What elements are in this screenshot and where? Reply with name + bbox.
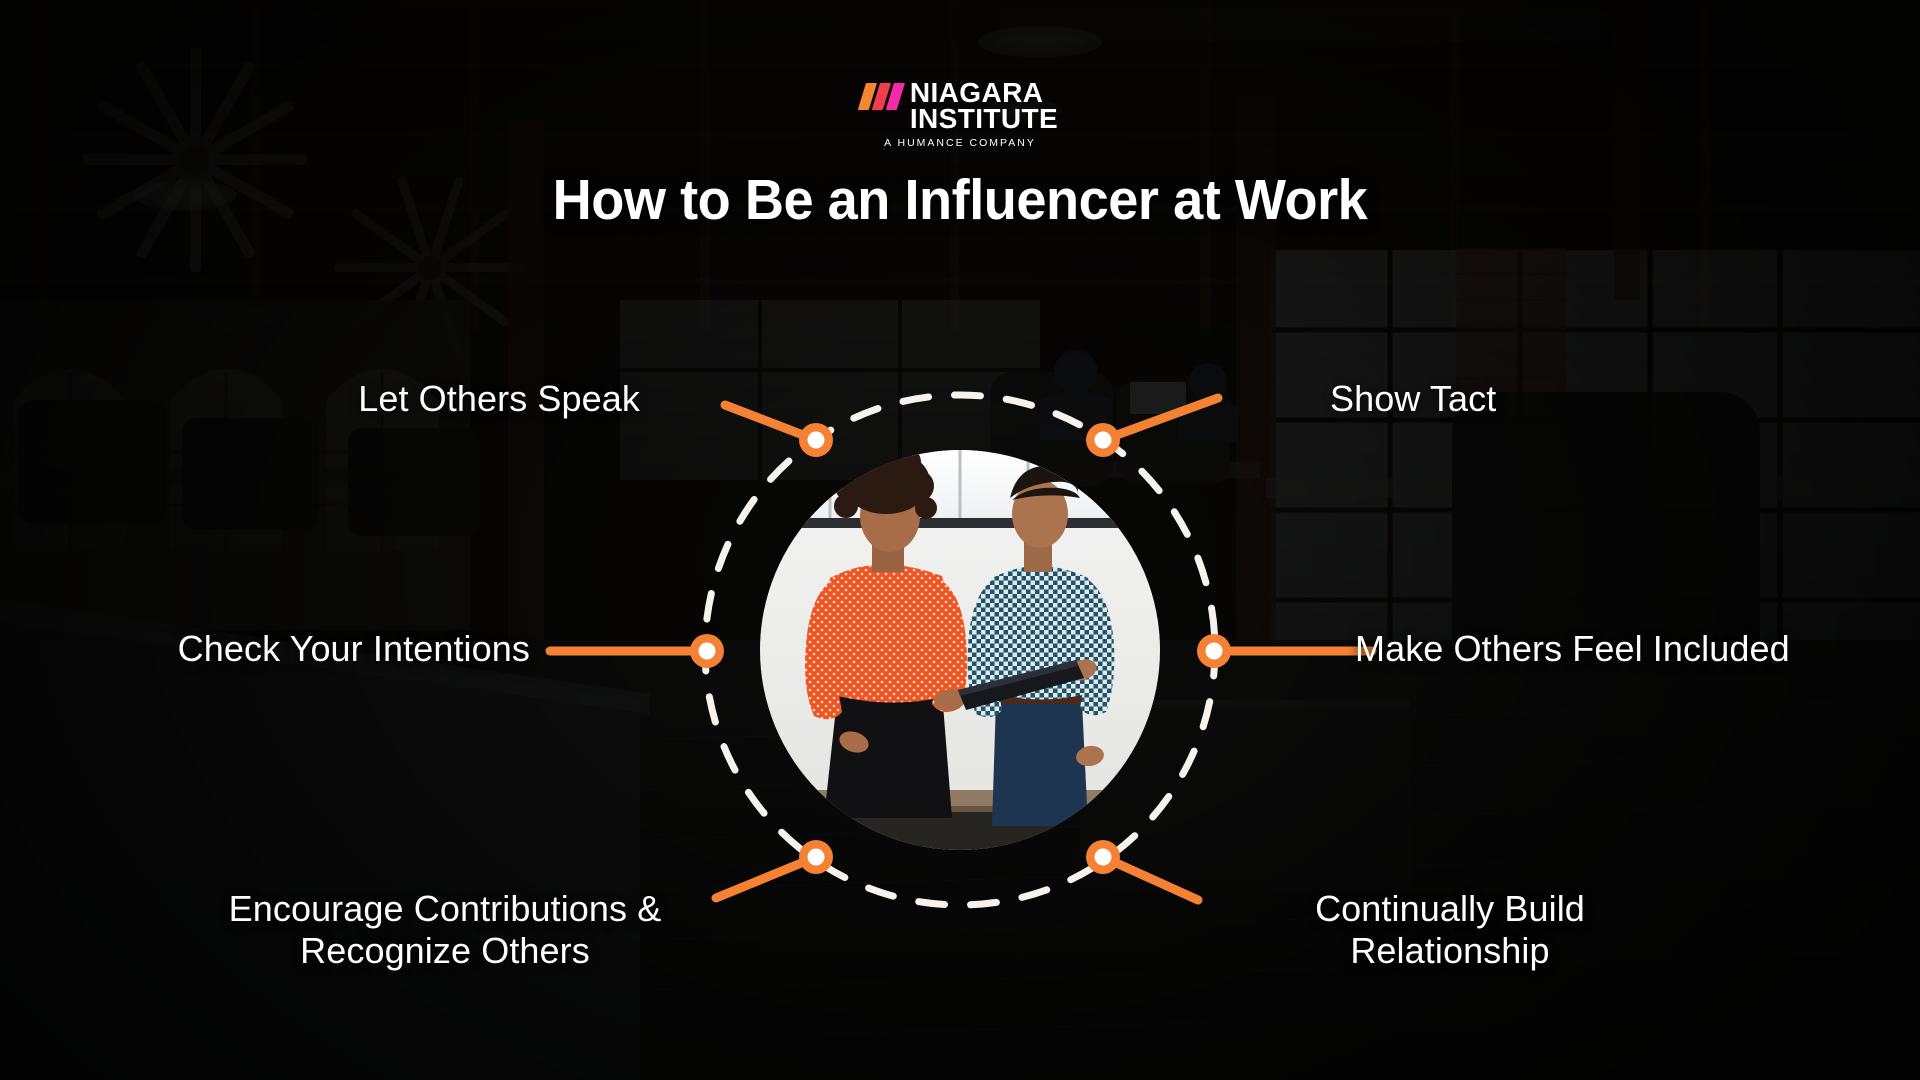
- label-check-your-intentions: Check Your Intentions: [178, 628, 530, 670]
- logo-name-line2: INSTITUTE: [910, 106, 1058, 132]
- connector-show-tact: [1103, 398, 1218, 440]
- infographic-slide: NIAGARA INSTITUTE A HUMANCE COMPANY How …: [0, 0, 1920, 1080]
- label-continually-build-relationship: Continually Build Relationship: [1240, 888, 1660, 973]
- logo-tagline: A HUMANCE COMPANY: [884, 137, 1036, 149]
- label-make-others-feel-included: Make Others Feel Included: [1355, 628, 1790, 670]
- logo-slashes-icon: [862, 83, 901, 110]
- node-show-tact[interactable]: [1086, 423, 1120, 457]
- node-make-others-feel-included[interactable]: [1197, 634, 1231, 668]
- node-encourage-contributions[interactable]: [799, 840, 833, 874]
- node-let-others-speak[interactable]: [799, 423, 833, 457]
- node-check-your-intentions[interactable]: [690, 634, 724, 668]
- label-let-others-speak: Let Others Speak: [358, 378, 640, 420]
- center-photo-circle: [760, 441, 1160, 850]
- label-show-tact: Show Tact: [1330, 378, 1496, 420]
- node-continually-build-relationship[interactable]: [1086, 840, 1120, 874]
- niagara-institute-logo: NIAGARA INSTITUTE A HUMANCE COMPANY: [862, 80, 1058, 149]
- label-encourage-contributions: Encourage Contributions & Recognize Othe…: [200, 888, 690, 973]
- page-title: How to Be an Influencer at Work: [48, 167, 1872, 233]
